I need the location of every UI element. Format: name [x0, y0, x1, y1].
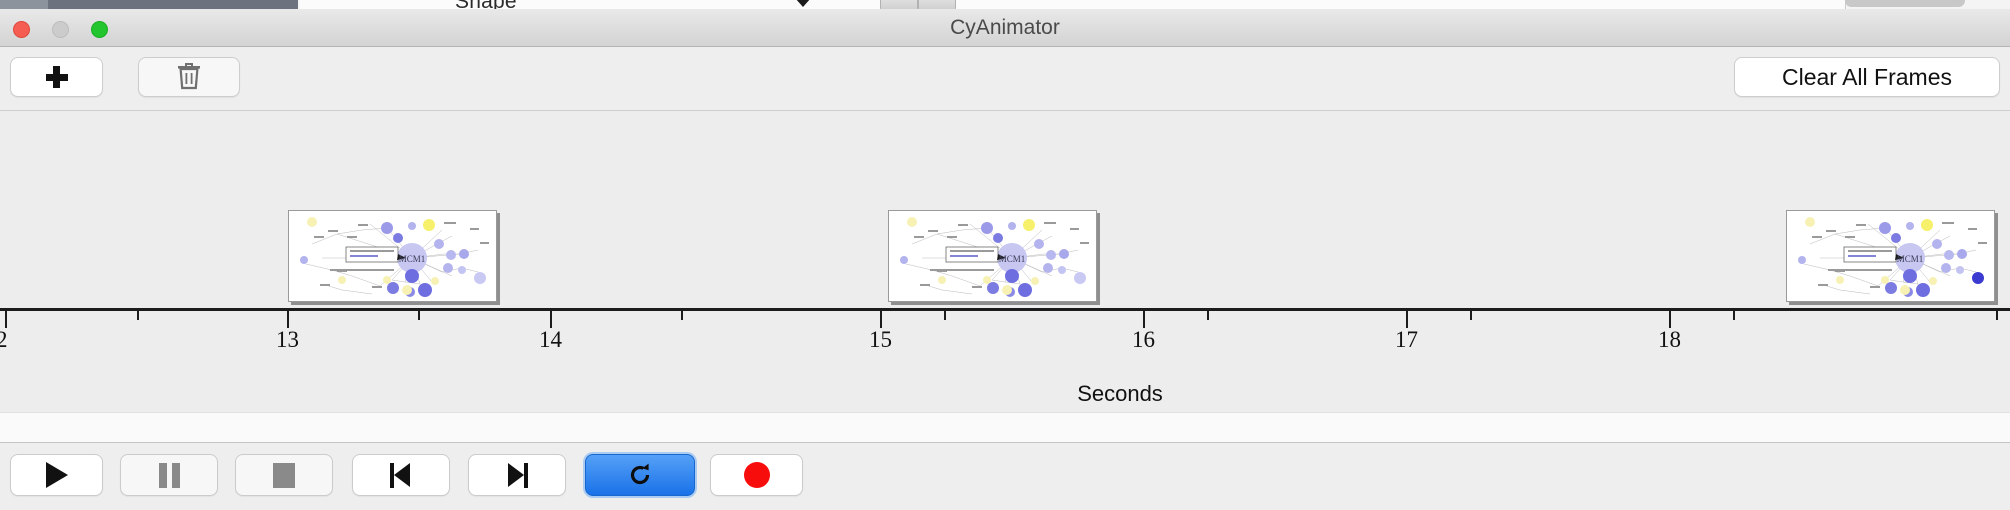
frame-toolbar: Clear All Frames — [0, 47, 2010, 111]
loop-button[interactable] — [585, 454, 695, 496]
zoom-button-icon[interactable] — [91, 21, 108, 38]
frame-node-label: MCM1 — [1897, 254, 1924, 264]
frame-network-preview: MCM1 — [1790, 214, 1993, 300]
ruler-tick-major — [880, 311, 882, 328]
frame-node-label: MCM1 — [399, 254, 426, 264]
frame-network-preview: MCM1 — [892, 214, 1095, 300]
stop-button[interactable] — [235, 454, 333, 496]
ruler-tick-minor — [137, 311, 139, 320]
ruler-tick-major — [1669, 311, 1671, 328]
ruler-tick-major — [1143, 311, 1145, 328]
timeline-scrollbar-track[interactable] — [0, 412, 2010, 442]
delete-frame-button[interactable] — [138, 57, 240, 97]
ruler-tick-minor — [418, 311, 420, 320]
cyanimator-window: Shape CyAnimator Clear All Frames — [0, 0, 2010, 510]
ruler-label: 16 — [1132, 327, 1155, 353]
timeline-ruler[interactable] — [0, 308, 2010, 311]
ruler-tick-major — [5, 311, 7, 328]
pause-button[interactable] — [120, 454, 218, 496]
clear-all-frames-button[interactable]: Clear All Frames — [1734, 57, 2000, 97]
record-icon — [744, 462, 770, 488]
timeline-frame-thumbnail[interactable]: MCM1 — [1786, 210, 1995, 302]
ruler-tick-minor — [944, 311, 946, 320]
close-button-icon[interactable] — [13, 21, 30, 38]
stop-icon — [273, 463, 295, 488]
play-button[interactable] — [10, 454, 103, 496]
ruler-tick-minor — [1470, 311, 1472, 320]
trash-icon — [176, 62, 202, 92]
ruler-tick-major — [287, 311, 289, 328]
ruler-tick-minor — [1207, 311, 1209, 320]
network-graph-icon: MCM1 — [292, 214, 495, 300]
background-scrollbar-thumb — [1845, 0, 1965, 7]
ruler-tick-major — [1406, 311, 1408, 328]
network-graph-icon: MCM1 — [1790, 214, 1993, 300]
ruler-tick-minor — [681, 311, 683, 320]
window-title: CyAnimator — [0, 9, 2010, 47]
timeline-frame-thumbnail[interactable]: MCM1 — [888, 210, 1097, 302]
background-sort-arrow-icon — [795, 0, 811, 7]
playback-control-bar: Animation Speed: — [0, 442, 2010, 510]
clear-all-frames-label: Clear All Frames — [1782, 64, 1952, 91]
previous-frame-button[interactable] — [352, 454, 450, 496]
frame-network-preview: MCM1 — [292, 214, 495, 300]
axis-title-label: Seconds — [1077, 381, 1163, 406]
ruler-label: 17 — [1395, 327, 1418, 353]
frame-node-label: MCM1 — [999, 254, 1026, 264]
ruler-label: 2 — [0, 327, 8, 353]
skip-back-icon — [390, 463, 412, 488]
ruler-label: 13 — [276, 327, 299, 353]
pause-icon — [159, 463, 180, 488]
ruler-tick-major — [550, 311, 552, 328]
plus-icon — [46, 66, 68, 88]
play-icon — [46, 462, 68, 488]
ruler-tick-minor — [1733, 311, 1735, 320]
ruler-label: 18 — [1658, 327, 1681, 353]
timeline-panel[interactable]: MCM1 — [0, 111, 2010, 412]
minimize-button-icon[interactable] — [52, 21, 69, 38]
timeline-frame-thumbnail[interactable]: MCM1 — [288, 210, 497, 302]
network-graph-icon: MCM1 — [892, 214, 1095, 300]
next-frame-button[interactable] — [468, 454, 566, 496]
add-frame-button[interactable] — [10, 57, 103, 97]
window-titlebar: CyAnimator — [0, 9, 2010, 47]
ruler-tick-minor — [1996, 311, 1998, 320]
skip-forward-icon — [506, 463, 528, 488]
ruler-label: 14 — [539, 327, 562, 353]
loop-icon — [625, 460, 655, 490]
axis-title: Seconds — [0, 381, 2010, 407]
record-button[interactable] — [710, 454, 803, 496]
ruler-label: 15 — [869, 327, 892, 353]
